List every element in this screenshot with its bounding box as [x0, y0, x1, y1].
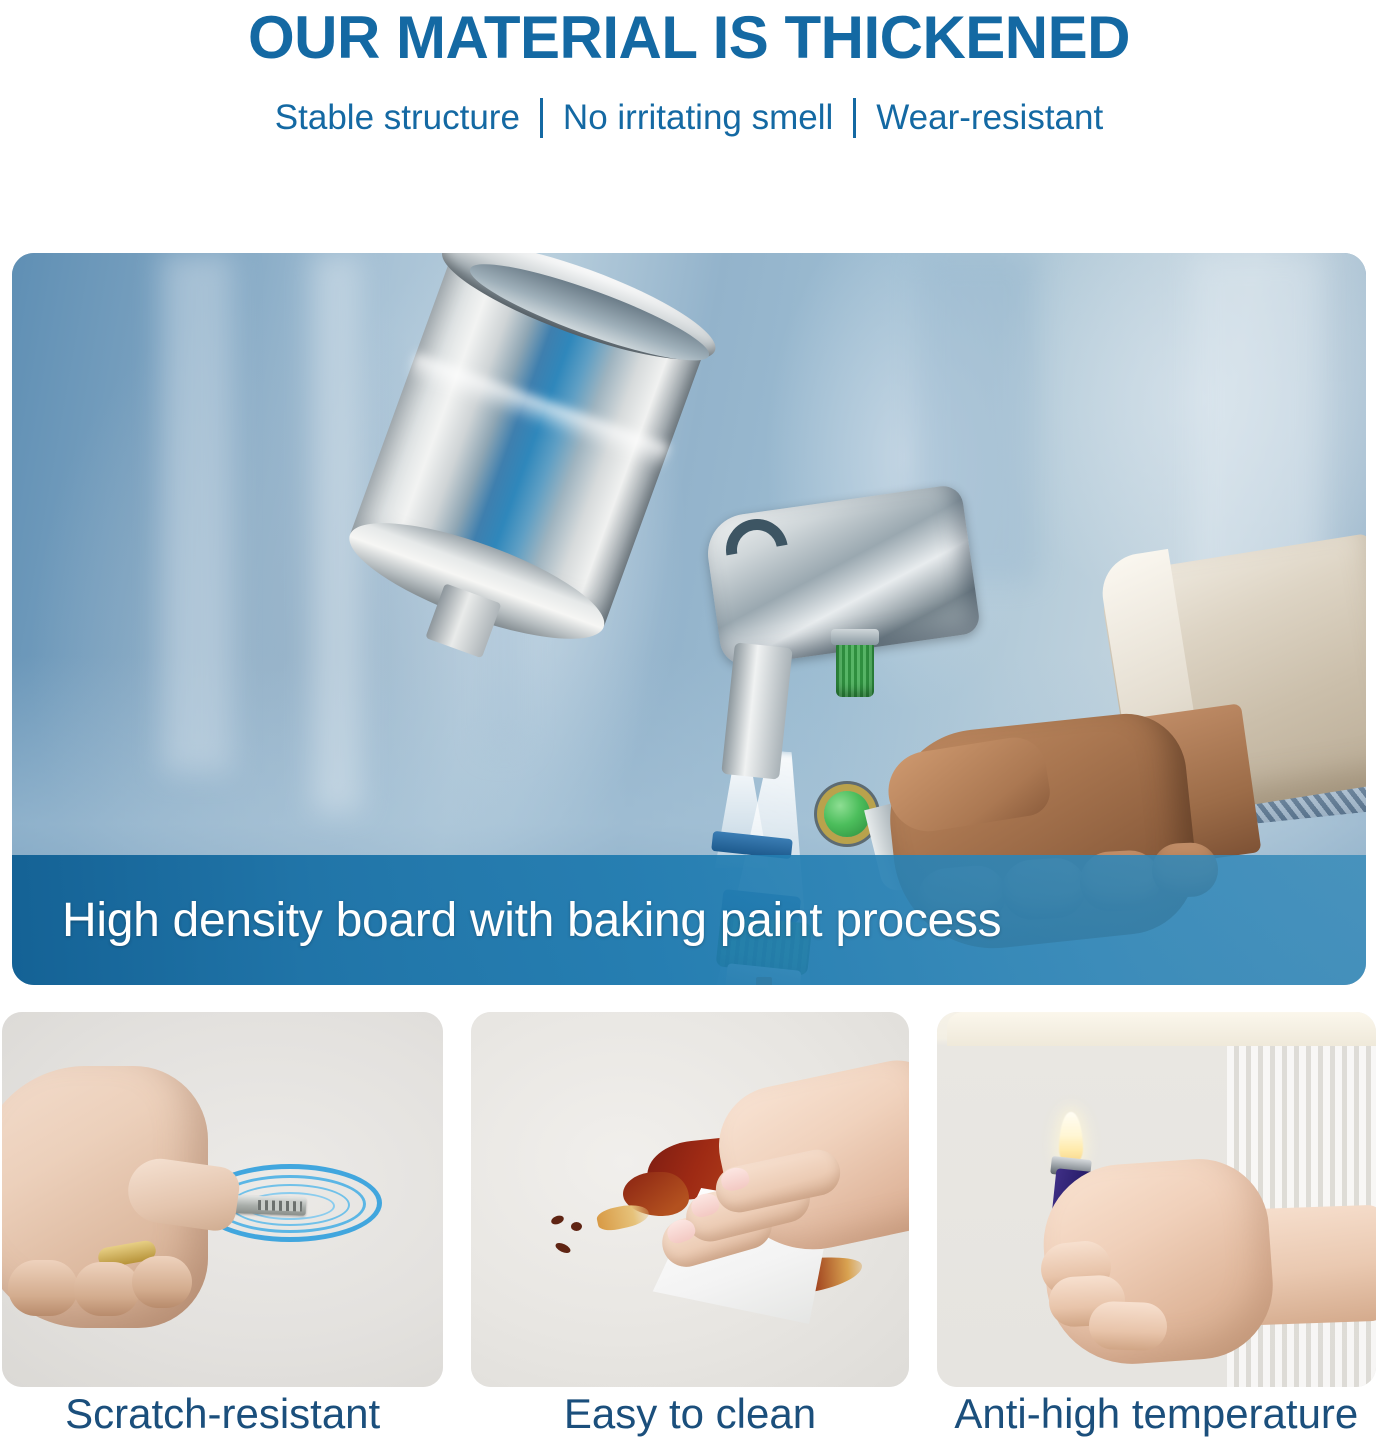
header: OUR MATERIAL IS THICKENED Stable structu… — [0, 0, 1378, 139]
panel-top-edge — [947, 1012, 1376, 1046]
hero-caption-text: High density board with baking paint pro… — [62, 893, 1001, 948]
panel-caption-row: Scratch-resistant Easy to clean Anti-hig… — [0, 1388, 1378, 1441]
caption-anti-high-temperature: Anti-high temperature — [937, 1388, 1376, 1441]
page-title: OUR MATERIAL IS THICKENED — [0, 6, 1378, 71]
panel-easy-to-clean — [471, 1012, 908, 1387]
feature-item-2: No irritating smell — [543, 97, 853, 139]
panel1-knuckle — [8, 1260, 78, 1316]
panel1-knuckle — [74, 1262, 140, 1316]
panel3-knuckle — [1088, 1301, 1168, 1352]
background-streak — [162, 253, 232, 773]
feature-list: Stable structure No irritating smell Wea… — [0, 97, 1378, 139]
panel1-knuckle — [132, 1256, 192, 1308]
panel-scratch-resistant — [2, 1012, 443, 1387]
hero-image: High density board with baking paint pro… — [12, 253, 1366, 985]
feature-panel-row — [0, 1012, 1378, 1387]
panel-anti-high-temperature — [937, 1012, 1376, 1387]
caption-easy-to-clean: Easy to clean — [471, 1388, 908, 1441]
feature-item-1: Stable structure — [255, 97, 540, 139]
green-air-knob — [836, 641, 874, 697]
hero-caption-banner: High density board with baking paint pro… — [12, 855, 1366, 985]
feature-item-3: Wear-resistant — [856, 97, 1123, 139]
caption-scratch-resistant: Scratch-resistant — [2, 1388, 443, 1441]
green-fluid-knob — [824, 791, 870, 837]
